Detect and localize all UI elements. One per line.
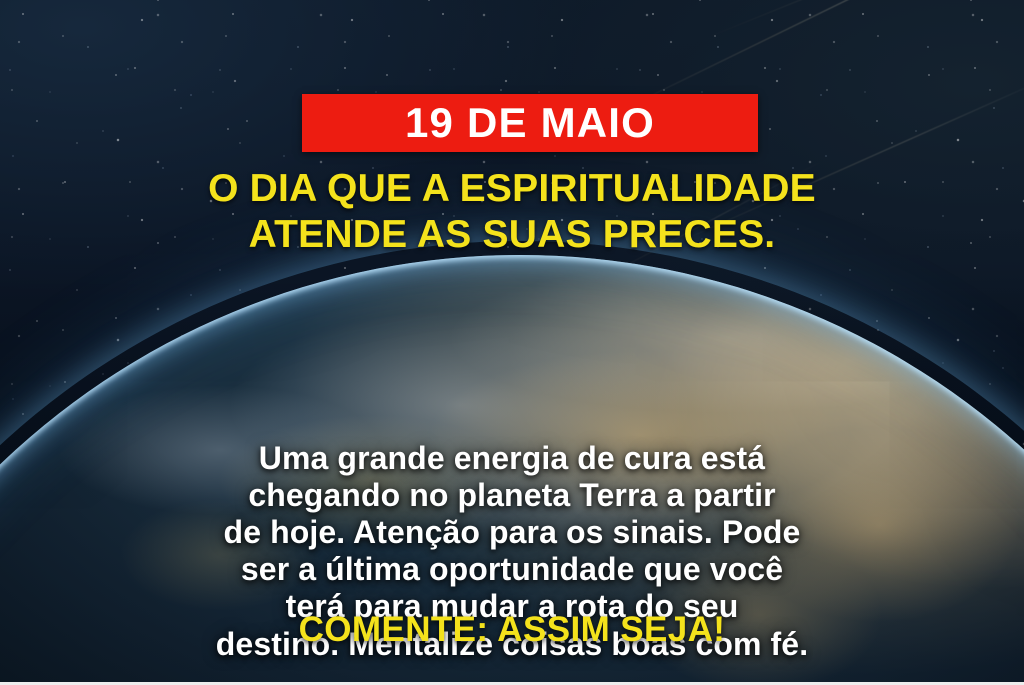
date-banner: 19 DE MAIO: [302, 94, 758, 152]
headline-line-2: ATENDE AS SUAS PRECES.: [0, 212, 1024, 258]
body-line-2: chegando no planeta Terra a partir: [46, 477, 978, 514]
body-line-3: de hoje. Atenção para os sinais. Pode: [46, 514, 978, 551]
headline-line-1: O DIA QUE A ESPIRITUALIDADE: [0, 166, 1024, 212]
body-line-4: ser a última oportunidade que você: [46, 551, 978, 588]
poster-image: 19 DE MAIO O DIA QUE A ESPIRITUALIDADE A…: [0, 0, 1024, 685]
date-banner-label: 19 DE MAIO: [405, 102, 655, 144]
poster-content: 19 DE MAIO O DIA QUE A ESPIRITUALIDADE A…: [0, 0, 1024, 685]
headline: O DIA QUE A ESPIRITUALIDADE ATENDE AS SU…: [0, 166, 1024, 257]
call-to-action-text: COMENTE: ASSIM SEJA!: [0, 612, 1024, 647]
body-line-1: Uma grande energia de cura está: [46, 440, 978, 477]
